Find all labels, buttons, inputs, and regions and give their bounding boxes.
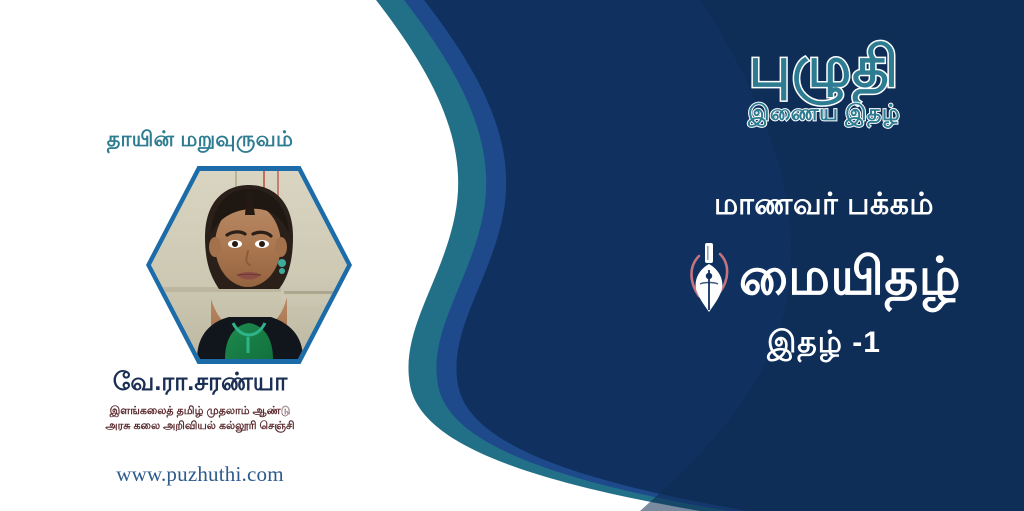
brand-title: புழுதி	[624, 36, 1024, 98]
student-name: வே.ரா.சரண்யா	[0, 368, 400, 400]
brand-logo: புழுதி இணைய இதழ்	[624, 36, 1024, 129]
right-panel: புழுதி இணைய இதழ் மாணவர் பக்கம் ம	[624, 0, 1024, 511]
section-label: மாணவர் பக்கம்	[624, 188, 1024, 226]
issue-number: இதழ் -1	[624, 326, 1024, 364]
brand-subtitle: இணைய இதழ்	[624, 100, 1024, 129]
student-description: இளங்கலைத் தமிழ் முதலாம் ஆண்டு அரசு கலை அ…	[0, 404, 400, 434]
left-heading: தாயின் மறுவுருவம்	[0, 128, 400, 154]
student-description-line-1: இளங்கலைத் தமிழ் முதலாம் ஆண்டு	[0, 404, 400, 419]
fountain-pen-nib-icon	[687, 240, 731, 314]
magazine-title-row: மையிதழ்	[624, 240, 1024, 314]
student-description-line-2: அரசு கலை அறிவியல் கல்லூரி செஞ்சி	[0, 419, 400, 434]
left-panel: தாயின் மறுவுருவம்	[0, 0, 400, 511]
website-link[interactable]: www.puzhuthi.com	[0, 462, 400, 487]
student-photo-frame	[146, 166, 352, 364]
magazine-title: மையிதழ்	[739, 240, 961, 314]
magazine-cover-poster: தாயின் மறுவுருவம்	[0, 0, 1024, 511]
